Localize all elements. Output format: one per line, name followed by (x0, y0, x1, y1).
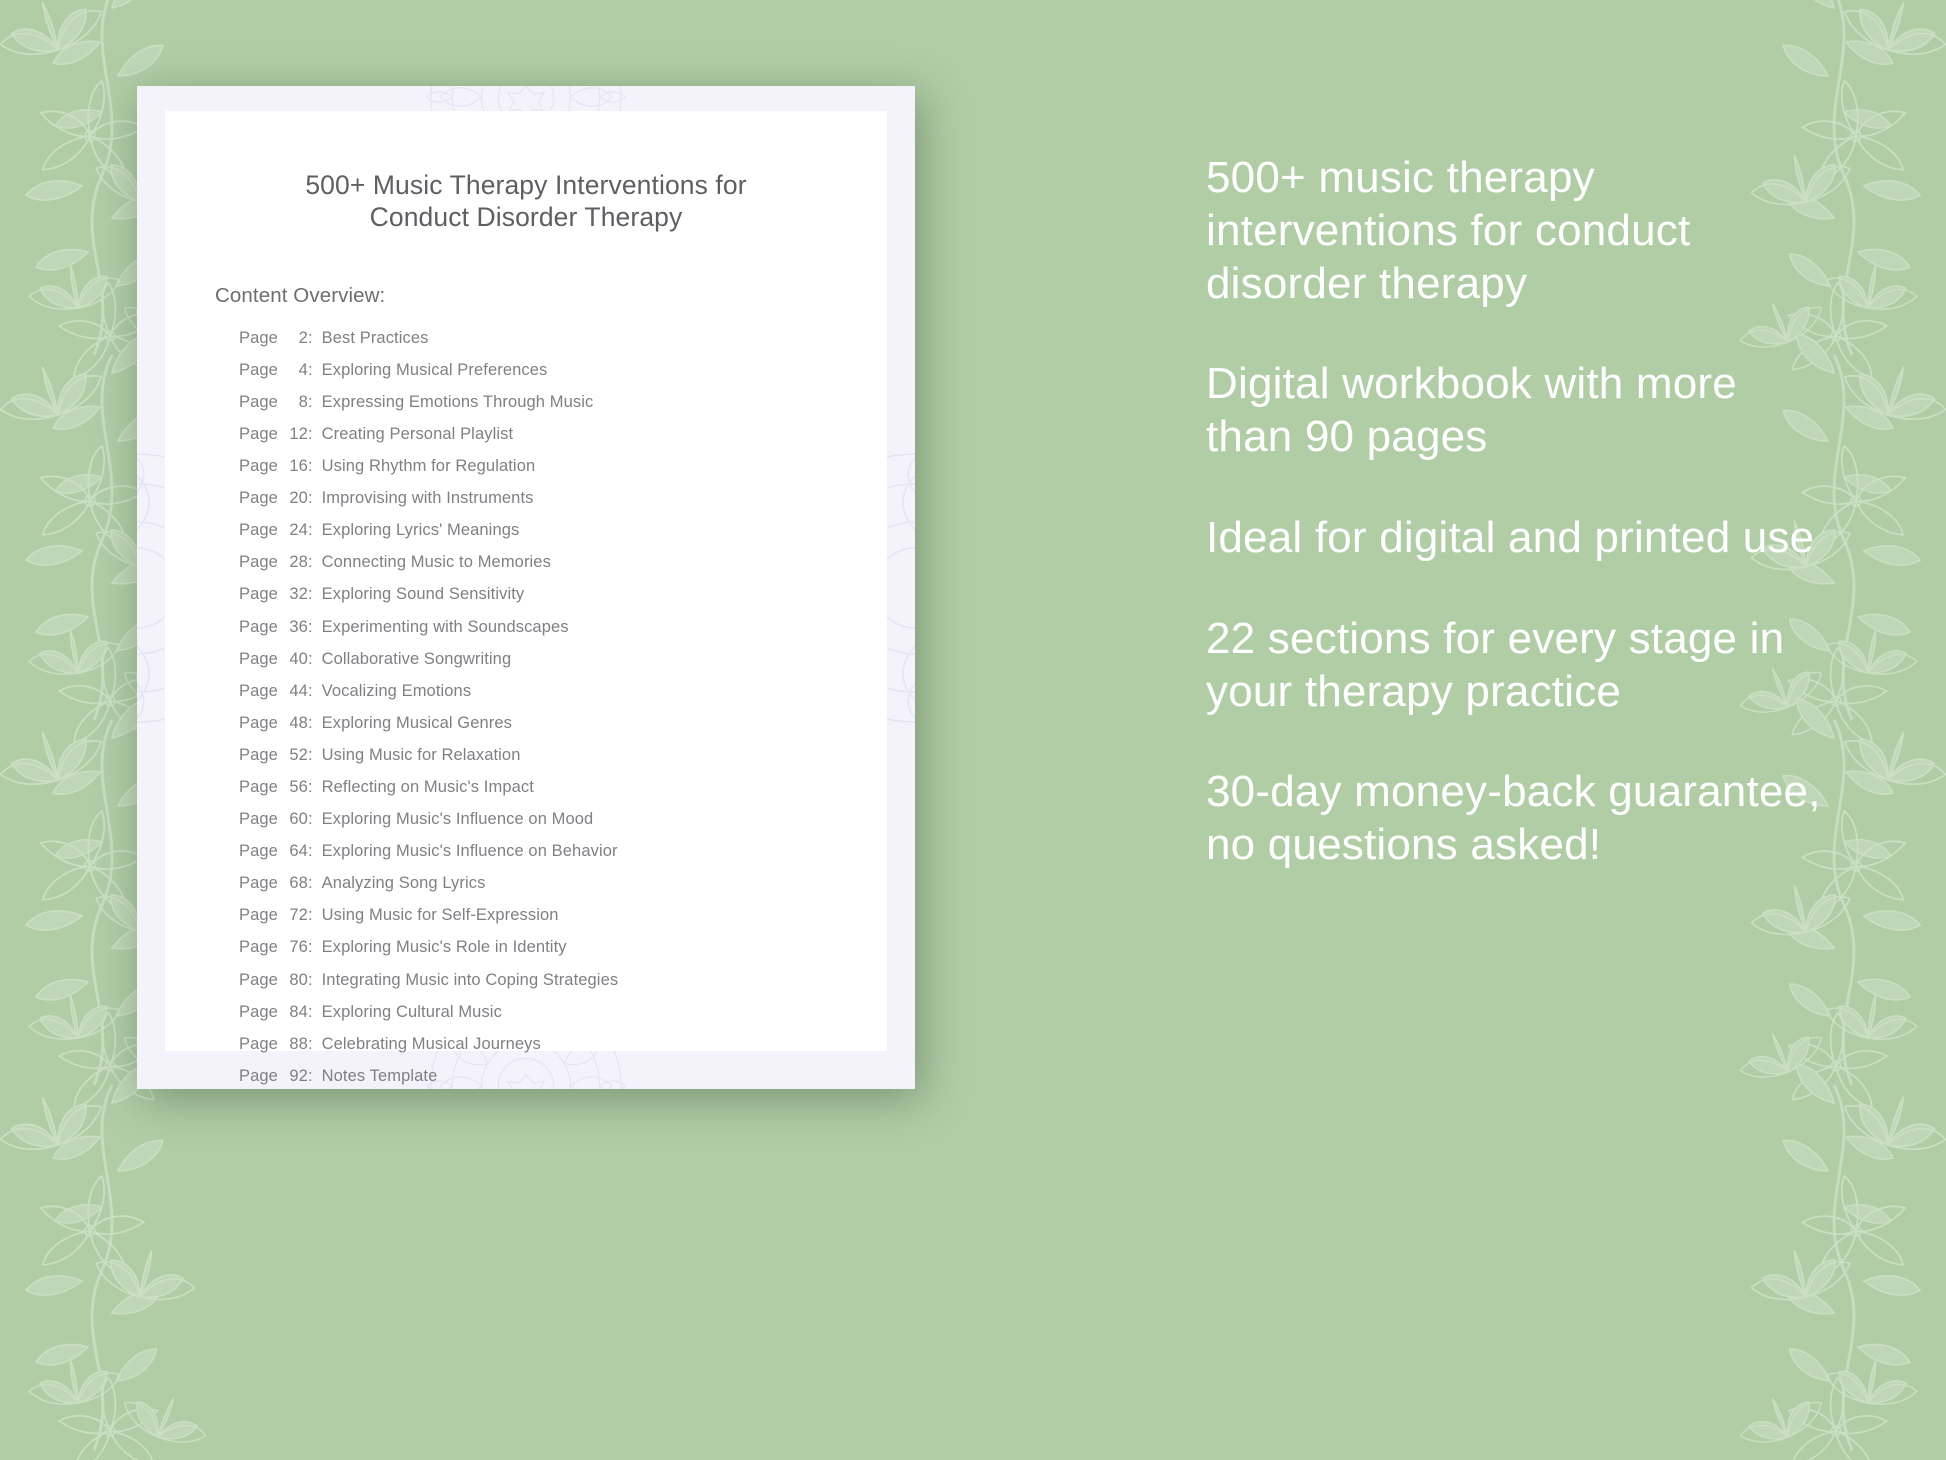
toc-section-title: Creating Personal Playlist (322, 426, 887, 443)
toc-entry: Page64:Exploring Music's Influence on Be… (239, 843, 887, 860)
toc-page-number: 2 (278, 330, 308, 347)
toc-entry: Page72:Using Music for Self-Expression (239, 907, 887, 924)
toc-page-word: Page (239, 907, 278, 924)
toc-section-title: Exploring Lyrics' Meanings (322, 522, 887, 539)
toc-entry: Page40:Collaborative Songwriting (239, 651, 887, 668)
toc-entry: Page36:Experimenting with Soundscapes (239, 619, 887, 636)
toc-page-word: Page (239, 490, 278, 507)
toc-section-title: Exploring Music's Influence on Mood (322, 811, 887, 828)
toc-colon: : (308, 554, 322, 571)
toc-page-number: 88 (278, 1036, 308, 1053)
toc-page-word: Page (239, 458, 278, 475)
toc-section-title: Improvising with Instruments (322, 490, 887, 507)
toc-page-number: 56 (278, 779, 308, 796)
toc-section-title: Celebrating Musical Journeys (322, 1036, 887, 1053)
toc-section-title: Using Rhythm for Regulation (322, 458, 887, 475)
toc-page-word: Page (239, 683, 278, 700)
toc-page-word: Page (239, 1068, 278, 1085)
toc-colon: : (308, 939, 322, 956)
toc-page-word: Page (239, 362, 278, 379)
toc-page-number: 8 (278, 394, 308, 411)
toc-section-title: Reflecting on Music's Impact (322, 779, 887, 796)
toc-page-number: 68 (278, 875, 308, 892)
toc-page-number: 36 (278, 619, 308, 636)
toc-section-title: Exploring Music's Influence on Behavior (322, 843, 887, 860)
toc-section-title: Analyzing Song Lyrics (322, 875, 887, 892)
toc-entry: Page28:Connecting Music to Memories (239, 554, 887, 571)
toc-entry: Page12:Creating Personal Playlist (239, 426, 887, 443)
toc-page-number: 52 (278, 747, 308, 764)
toc-section-title: Exploring Music's Role in Identity (322, 939, 887, 956)
toc-entry: Page60:Exploring Music's Influence on Mo… (239, 811, 887, 828)
toc-page-word: Page (239, 586, 278, 603)
toc-page-word: Page (239, 619, 278, 636)
toc-colon: : (308, 330, 322, 347)
toc-section-title: Connecting Music to Memories (322, 554, 887, 571)
toc-colon: : (308, 651, 322, 668)
toc-page-word: Page (239, 875, 278, 892)
toc-entry: Page52:Using Music for Relaxation (239, 747, 887, 764)
toc-section-title: Exploring Cultural Music (322, 1004, 887, 1021)
toc-page-number: 16 (278, 458, 308, 475)
toc-page-word: Page (239, 972, 278, 989)
workbook-preview-document: 500+ Music Therapy Interventions for Con… (137, 86, 915, 1089)
toc-page-word: Page (239, 394, 278, 411)
toc-page-word: Page (239, 843, 278, 860)
marketing-bullet: Digital workbook with more than 90 pages (1206, 358, 1826, 464)
toc-page-number: 48 (278, 715, 308, 732)
page-title-line-1: 500+ Music Therapy Interventions for (305, 170, 746, 200)
toc-page-number: 72 (278, 907, 308, 924)
toc-section-title: Integrating Music into Coping Strategies (322, 972, 887, 989)
toc-page-number: 92 (278, 1068, 308, 1085)
toc-colon: : (308, 490, 322, 507)
toc-colon: : (308, 394, 322, 411)
toc-page-word: Page (239, 811, 278, 828)
toc-entry: Page20:Improvising with Instruments (239, 490, 887, 507)
toc-entry: Page88:Celebrating Musical Journeys (239, 1036, 887, 1053)
toc-entry: Page24:Exploring Lyrics' Meanings (239, 522, 887, 539)
toc-entry: Page68:Analyzing Song Lyrics (239, 875, 887, 892)
marketing-bullet: 22 sections for every stage in your ther… (1206, 613, 1826, 719)
toc-page-word: Page (239, 330, 278, 347)
table-of-contents: Page2:Best PracticesPage4:Exploring Musi… (165, 308, 887, 1085)
toc-colon: : (308, 1004, 322, 1021)
toc-section-title: Experimenting with Soundscapes (322, 619, 887, 636)
toc-section-title: Notes Template (322, 1068, 887, 1085)
toc-page-number: 76 (278, 939, 308, 956)
toc-page-number: 4 (278, 362, 308, 379)
toc-colon: : (308, 1036, 322, 1053)
document-page: 500+ Music Therapy Interventions for Con… (165, 111, 887, 1051)
toc-entry: Page8:Expressing Emotions Through Music (239, 394, 887, 411)
toc-section-title: Best Practices (322, 330, 887, 347)
toc-page-word: Page (239, 747, 278, 764)
toc-colon: : (308, 362, 322, 379)
toc-entry: Page16:Using Rhythm for Regulation (239, 458, 887, 475)
toc-colon: : (308, 683, 322, 700)
toc-colon: : (308, 972, 322, 989)
marketing-bullet: 500+ music therapy interventions for con… (1206, 152, 1826, 310)
marketing-bullet: 30-day money-back guarantee, no question… (1206, 766, 1826, 872)
toc-section-title: Expressing Emotions Through Music (322, 394, 887, 411)
toc-page-word: Page (239, 554, 278, 571)
toc-page-number: 84 (278, 1004, 308, 1021)
toc-colon: : (308, 458, 322, 475)
toc-page-word: Page (239, 1036, 278, 1053)
toc-entry: Page84:Exploring Cultural Music (239, 1004, 887, 1021)
content-overview-label: Content Overview: (165, 234, 887, 308)
toc-page-number: 12 (278, 426, 308, 443)
toc-page-word: Page (239, 779, 278, 796)
toc-section-title: Collaborative Songwriting (322, 651, 887, 668)
toc-colon: : (308, 747, 322, 764)
page-title: 500+ Music Therapy Interventions for Con… (165, 111, 887, 234)
toc-page-word: Page (239, 715, 278, 732)
toc-colon: : (308, 426, 322, 443)
toc-entry: Page2:Best Practices (239, 330, 887, 347)
toc-page-word: Page (239, 426, 278, 443)
toc-page-word: Page (239, 651, 278, 668)
toc-entry: Page4:Exploring Musical Preferences (239, 362, 887, 379)
toc-entry: Page56:Reflecting on Music's Impact (239, 779, 887, 796)
toc-section-title: Vocalizing Emotions (322, 683, 887, 700)
toc-colon: : (308, 522, 322, 539)
toc-entry: Page32:Exploring Sound Sensitivity (239, 586, 887, 603)
toc-section-title: Exploring Musical Preferences (322, 362, 887, 379)
toc-section-title: Exploring Musical Genres (322, 715, 887, 732)
toc-entry: Page92:Notes Template (239, 1068, 887, 1085)
toc-colon: : (308, 1068, 322, 1085)
toc-entry: Page48:Exploring Musical Genres (239, 715, 887, 732)
toc-colon: : (308, 715, 322, 732)
document-frame: 500+ Music Therapy Interventions for Con… (137, 86, 915, 1089)
toc-page-number: 20 (278, 490, 308, 507)
toc-section-title: Exploring Sound Sensitivity (322, 586, 887, 603)
toc-entry: Page80:Integrating Music into Coping Str… (239, 972, 887, 989)
toc-colon: : (308, 843, 322, 860)
toc-colon: : (308, 586, 322, 603)
toc-page-number: 80 (278, 972, 308, 989)
toc-page-number: 40 (278, 651, 308, 668)
toc-section-title: Using Music for Relaxation (322, 747, 887, 764)
toc-page-word: Page (239, 1004, 278, 1021)
toc-colon: : (308, 875, 322, 892)
marketing-bullet: Ideal for digital and printed use (1206, 512, 1826, 565)
toc-page-number: 28 (278, 554, 308, 571)
toc-colon: : (308, 779, 322, 796)
toc-page-word: Page (239, 522, 278, 539)
toc-page-number: 24 (278, 522, 308, 539)
page-title-line-2: Conduct Disorder Therapy (370, 202, 683, 232)
toc-page-number: 60 (278, 811, 308, 828)
toc-colon: : (308, 619, 322, 636)
toc-page-number: 32 (278, 586, 308, 603)
toc-page-number: 64 (278, 843, 308, 860)
toc-entry: Page44:Vocalizing Emotions (239, 683, 887, 700)
toc-page-word: Page (239, 939, 278, 956)
toc-page-number: 44 (278, 683, 308, 700)
toc-section-title: Using Music for Self-Expression (322, 907, 887, 924)
toc-entry: Page76:Exploring Music's Role in Identit… (239, 939, 887, 956)
toc-colon: : (308, 811, 322, 828)
toc-colon: : (308, 907, 322, 924)
marketing-bullet-list: 500+ music therapy interventions for con… (1206, 152, 1826, 872)
